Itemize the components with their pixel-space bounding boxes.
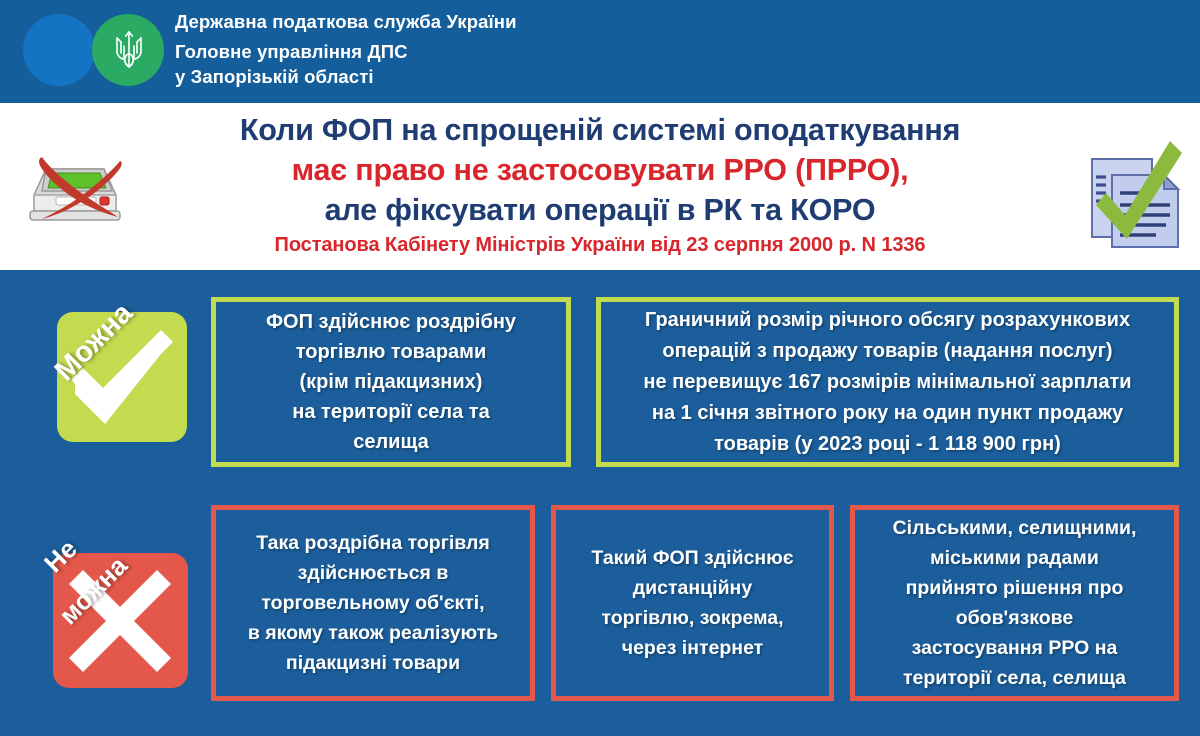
text-line: на території села та [266, 397, 516, 427]
text-line: (крім підакцизних) [266, 367, 516, 397]
forbidden-condition-box-3: Сільськими, селищними, міськими радами п… [850, 505, 1179, 701]
cash-register-crossed-out-icon [16, 133, 134, 237]
text-line: території села, селища [893, 663, 1137, 693]
header-org-line-1: Державна податкова служба України [175, 9, 517, 35]
text-line: торговельному об'єкті, [248, 588, 498, 618]
text-line: торгівлю, зокрема, [591, 603, 793, 633]
logo-circle-blue-icon [23, 14, 95, 86]
allowed-condition-box-2: Граничний розмір річного обсягу розрахун… [596, 297, 1179, 467]
header-bar: Державна податкова служба України Головн… [0, 0, 1200, 103]
forbidden-condition-box-3-text: Сільськими, селищними, міськими радами п… [893, 513, 1137, 693]
title-subtitle: Постанова Кабінету Міністрів України від… [130, 230, 1070, 260]
header-org-line-2: Головне управління ДПС [175, 39, 517, 64]
text-line: обов'язкове [893, 603, 1137, 633]
text-line: прийнято рішення про [893, 573, 1137, 603]
text-line: дистанційну [591, 573, 793, 603]
text-line: в якому також реалізують [248, 618, 498, 648]
tryzub-emblem-icon [113, 29, 145, 71]
allowed-condition-box-1: ФОП здійснює роздрібну торгівлю товарами… [211, 297, 571, 467]
title-band: Коли ФОП на спрощеній системі оподаткува… [0, 103, 1200, 270]
title-text-block: Коли ФОП на спрощеній системі оподаткува… [130, 110, 1070, 260]
forbidden-condition-box-2-text: Такий ФОП здійснює дистанційну торгівлю,… [591, 543, 793, 663]
text-line: Граничний розмір річного обсягу розрахун… [643, 305, 1131, 336]
text-line: ФОП здійснює роздрібну [266, 307, 516, 337]
title-line-3: але фіксувати операції в РК та КОРО [130, 190, 1070, 230]
title-line-2: має право не застосовувати РРО (ПРРО), [130, 150, 1070, 190]
text-line: товарів (у 2023 році - 1 118 900 грн) [643, 429, 1131, 460]
forbidden-condition-box-1-text: Така роздрібна торгівля здійснюється в т… [248, 528, 498, 678]
text-line: торгівлю товарами [266, 337, 516, 367]
text-line: Сільськими, селищними, [893, 513, 1137, 543]
forbidden-condition-box-2: Такий ФОП здійснює дистанційну торгівлю,… [551, 505, 834, 701]
title-line-1: Коли ФОП на спрощеній системі оподаткува… [130, 110, 1070, 150]
header-org-line-3: у Запорізькій області [175, 64, 517, 89]
forbidden-condition-box-1: Така роздрібна торгівля здійснюється в т… [211, 505, 535, 701]
text-line: через інтернет [591, 633, 793, 663]
allowed-condition-box-2-text: Граничний розмір річного обсягу розрахун… [643, 305, 1131, 460]
text-line: на 1 січня звітного року на один пункт п… [643, 398, 1131, 429]
infographic-page: Державна податкова служба України Головн… [0, 0, 1200, 736]
text-line: підакцизні товари [248, 648, 498, 678]
text-line: застосування РРО на [893, 633, 1137, 663]
text-line: міськими радами [893, 543, 1137, 573]
text-line: селища [266, 427, 516, 457]
text-line: Такий ФОП здійснює [591, 543, 793, 573]
text-line: здійснюється в [248, 558, 498, 588]
header-org-text: Державна податкова служба України Головн… [175, 9, 517, 89]
documents-approved-icon [1078, 131, 1188, 263]
text-line: Така роздрібна торгівля [248, 528, 498, 558]
allowed-condition-box-1-text: ФОП здійснює роздрібну торгівлю товарами… [266, 307, 516, 457]
text-line: операцій з продажу товарів (надання посл… [643, 336, 1131, 367]
text-line: не перевищує 167 розмірів мінімальної за… [643, 367, 1131, 398]
